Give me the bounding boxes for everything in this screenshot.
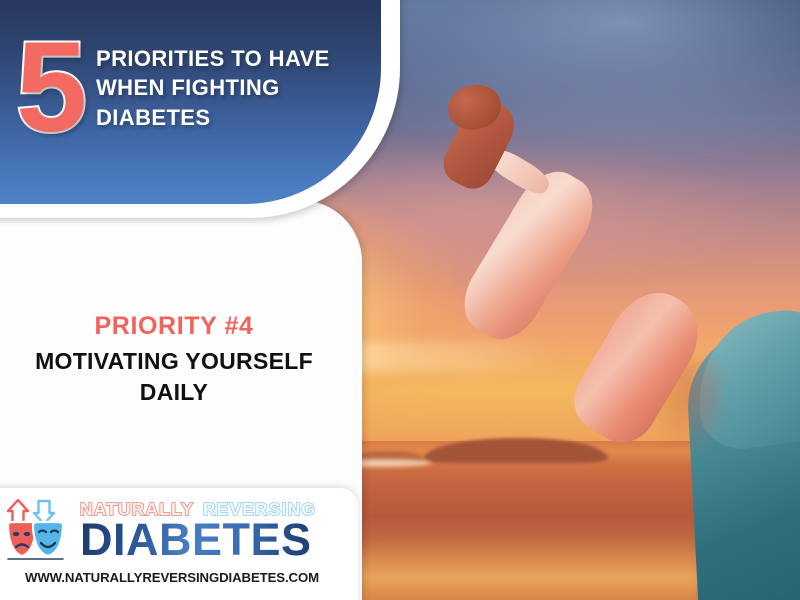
theatre-masks-icon: [0, 496, 74, 564]
priority-block: PRIORITY #4 MOTIVATING YOURSELF DAILY: [0, 312, 348, 407]
banner-title: PRIORITIES TO HAVE WHEN FIGHTING DIABETE…: [96, 44, 376, 132]
logo-lockup: NATURALLY REVERSING DIABETES: [0, 496, 344, 564]
logo-card[interactable]: NATURALLY REVERSING DIABETES WWW.NATURAL…: [0, 488, 358, 600]
header-banner: 5 PRIORITIES TO HAVE WHEN FIGHTING DIABE…: [0, 0, 400, 218]
priority-label: PRIORITY #4: [0, 312, 348, 341]
infographic-canvas: PRIORITY #4 MOTIVATING YOURSELF DAILY 5 …: [0, 0, 800, 600]
wordmark: NATURALLY REVERSING DIABETES: [80, 499, 344, 561]
website-url[interactable]: WWW.NATURALLYREVERSINGDIABETES.COM: [0, 570, 344, 585]
banner-number: 5: [16, 24, 85, 152]
priority-text: MOTIVATING YOURSELF DAILY: [0, 346, 348, 407]
word-diabetes: DIABETES: [80, 519, 344, 561]
